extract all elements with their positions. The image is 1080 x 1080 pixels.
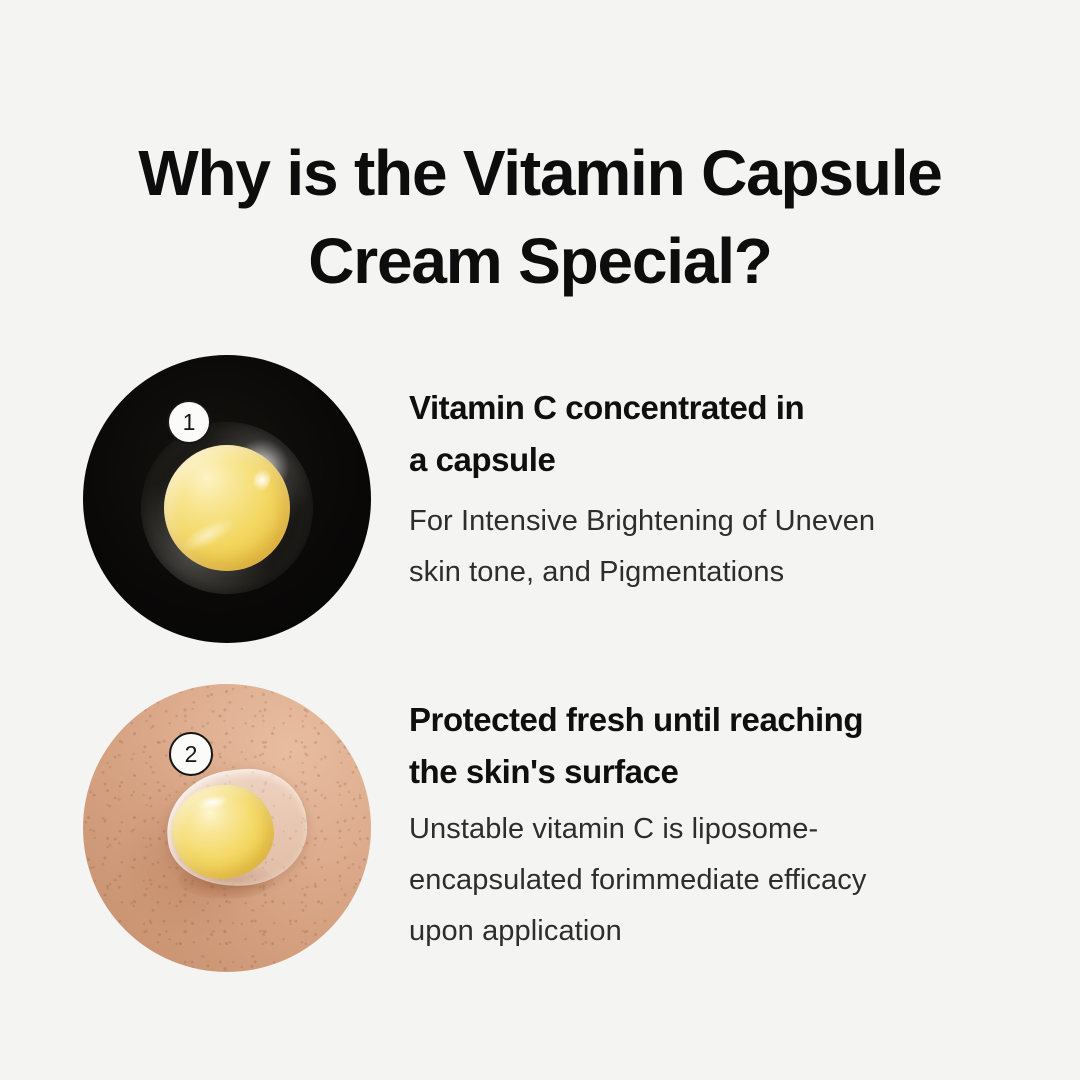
step-badge-2: 2 bbox=[169, 732, 213, 776]
page-title-line-2: Cream Special? bbox=[60, 217, 1020, 305]
step-badge-1: 1 bbox=[167, 400, 211, 444]
page-title: Why is the Vitamin Capsule Cream Special… bbox=[60, 129, 1020, 305]
infographic-page: Why is the Vitamin Capsule Cream Special… bbox=[0, 0, 1080, 1080]
feature-1-media: 1 bbox=[83, 355, 371, 643]
feature-2-heading: Protected fresh until reaching the skin'… bbox=[409, 694, 1009, 798]
feature-1-heading: Vitamin C concentrated in a capsule bbox=[409, 382, 1009, 486]
capsule-shell-shape bbox=[141, 422, 313, 594]
feature-2-media: 2 bbox=[83, 684, 371, 972]
feature-2-heading-line-2: the skin's surface bbox=[409, 746, 1009, 798]
capsule-on-black-photo bbox=[83, 355, 371, 643]
feature-2-description-line-2: encapsulated forimmediate efficacy bbox=[409, 855, 1009, 906]
capsule-core-shape bbox=[164, 445, 290, 571]
feature-2-description-line-1: Unstable vitamin C is liposome- bbox=[409, 804, 1009, 855]
capsule-highlight-icon bbox=[250, 465, 275, 495]
feature-1-heading-line-2: a capsule bbox=[409, 434, 1009, 486]
feature-1-description-line-2: skin tone, and Pigmentations bbox=[409, 547, 1009, 598]
feature-1-description-line-1: For Intensive Brightening of Uneven bbox=[409, 496, 1009, 547]
feature-1-copy: Vitamin C concentrated in a capsule For … bbox=[409, 382, 1009, 598]
feature-1-description: For Intensive Brightening of Uneven skin… bbox=[409, 496, 1009, 598]
feature-2-description-line-3: upon application bbox=[409, 906, 1009, 957]
feature-2-description: Unstable vitamin C is liposome- encapsul… bbox=[409, 804, 1009, 957]
capsule-sheen-icon bbox=[179, 513, 238, 557]
page-title-line-1: Why is the Vitamin Capsule bbox=[60, 129, 1020, 217]
feature-2-copy: Protected fresh until reaching the skin'… bbox=[409, 694, 1009, 957]
feature-2-heading-line-1: Protected fresh until reaching bbox=[409, 694, 1009, 746]
capsule-on-skin-photo bbox=[83, 684, 371, 972]
feature-1-heading-line-1: Vitamin C concentrated in bbox=[409, 382, 1009, 434]
